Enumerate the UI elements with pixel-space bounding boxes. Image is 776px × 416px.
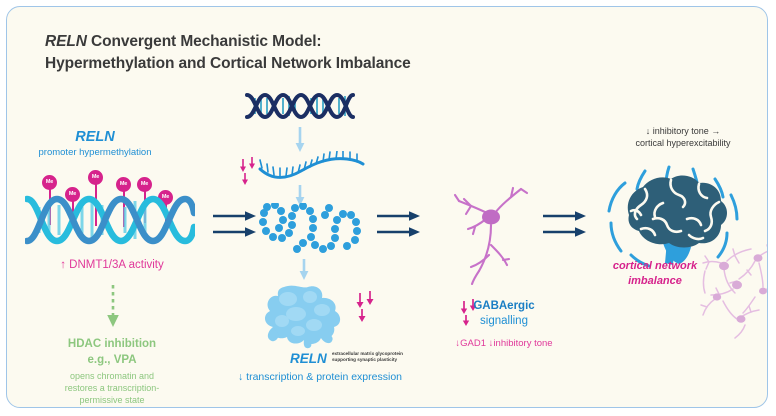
hdac-desc-line3: permissive state: [79, 395, 144, 405]
methyl-tag: Me: [42, 175, 57, 190]
figure-canvas: RELN Convergent Mechanistic Model: Hyper…: [6, 6, 768, 408]
flow-arrow-3-icon: [542, 209, 588, 239]
brain-caption-line1: ↓ inhibitory tone →: [646, 126, 721, 136]
mrna-strand-icon: [257, 151, 365, 183]
title-gene: RELN: [45, 33, 87, 50]
flow-arrow-2-icon: [376, 209, 422, 239]
reln-promoter-gene-label: RELN: [75, 129, 114, 145]
polypeptide-chain-icon: [259, 203, 363, 255]
hdac-inhibition-title: HDAC inhibition e.g., VPA: [68, 337, 156, 368]
brain-caption: ↓ inhibitory tone → cortical hyperexcita…: [635, 125, 730, 150]
folding-arrow-icon: [299, 259, 309, 281]
hdac-title-line1: HDAC inhibition: [68, 338, 156, 350]
gabaergic-signalling-title: GABAergic signalling: [473, 299, 534, 329]
dashed-down-arrow-icon: [105, 285, 121, 329]
flow-arrow-1-icon: [212, 207, 258, 241]
reln-desc-line2: supporting synaptic plasticity: [332, 357, 397, 362]
gaba-title-line1: GABAergic: [473, 300, 534, 312]
hdac-desc-line2: restores a transcription-: [65, 383, 160, 393]
dna-helix-small-icon: [245, 91, 355, 121]
decrease-arrows-protein-icon: [355, 291, 379, 323]
decrease-arrows-mrna-icon: [239, 157, 265, 187]
hdac-title-line2: e.g., VPA: [88, 354, 137, 366]
reln-protein-name: RELN: [290, 351, 327, 366]
reln-protein-description: extracellular matrix glycoprotein suppor…: [332, 351, 403, 363]
brain-caption-line2: cortical hyperexcitability: [635, 138, 730, 148]
transcription-arrow-icon: [295, 127, 305, 153]
gabaergic-sublabel: ↓GAD1 ↓inhibitory tone: [455, 338, 552, 349]
neuron-network-icon: [697, 239, 768, 339]
title-line1-rest: Convergent Mechanistic Model:: [87, 33, 322, 50]
transcription-outcome-label: ↓ transcription & protein expression: [238, 371, 402, 383]
reln-protein-icon: [260, 283, 348, 349]
cortical-imbalance-label: cortical network imbalance: [613, 259, 697, 288]
neuron-icon: [453, 183, 531, 285]
dnmt-activity-label: ↑ DNMT1/3A activity: [60, 259, 164, 271]
title-line2: Hypermethylation and Cortical Network Im…: [45, 55, 411, 72]
hdac-inhibition-description: opens chromatin and restores a transcrip…: [65, 370, 160, 406]
methyl-tag: Me: [88, 170, 103, 185]
gaba-title-line2: signalling: [480, 315, 528, 327]
imbalance-line1: cortical network: [613, 260, 697, 272]
reln-desc-line1: extracellular matrix glycoprotein: [332, 351, 403, 356]
reln-promoter-sublabel: promoter hypermethylation: [39, 147, 152, 158]
imbalance-line2: imbalance: [628, 275, 682, 287]
page-title: RELN Convergent Mechanistic Model: Hyper…: [45, 31, 565, 76]
dna-helix-icon: [25, 189, 195, 251]
hdac-desc-line1: opens chromatin and: [70, 371, 154, 381]
